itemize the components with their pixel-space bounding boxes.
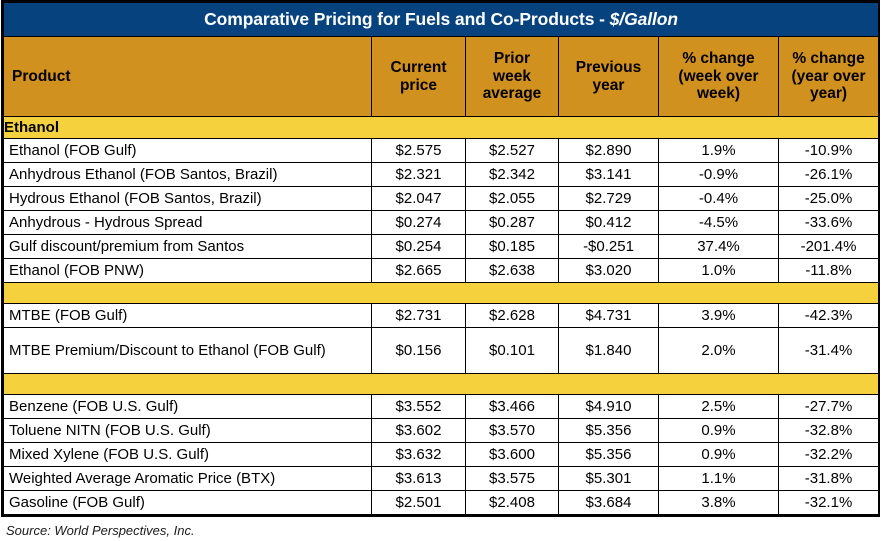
- cell-prior-week: $2.638: [466, 259, 559, 283]
- table-row: Gulf discount/premium from Santos$0.254$…: [4, 235, 879, 259]
- cell-current: $2.731: [372, 304, 466, 328]
- table-title-cell: Comparative Pricing for Fuels and Co-Pro…: [4, 3, 879, 37]
- section-band-label: [4, 283, 879, 304]
- cell-pct-week: 1.0%: [659, 259, 779, 283]
- table-row: Gasoline (FOB Gulf)$2.501$2.408$3.6843.8…: [4, 491, 879, 515]
- cell-current: $2.047: [372, 187, 466, 211]
- column-header-pct-change-week: % change(week overweek): [659, 37, 779, 117]
- cell-previous-year: $2.890: [559, 139, 659, 163]
- cell-product: MTBE (FOB Gulf): [4, 304, 372, 328]
- cell-prior-week: $2.628: [466, 304, 559, 328]
- title-unit-text: $/Gallon: [610, 9, 678, 29]
- section-band-label: [4, 374, 879, 395]
- source-note: Source: World Perspectives, Inc.: [6, 523, 895, 538]
- cell-pct-year: -32.2%: [779, 443, 879, 467]
- cell-pct-year: -201.4%: [779, 235, 879, 259]
- cell-prior-week: $3.466: [466, 395, 559, 419]
- cell-pct-week: 1.9%: [659, 139, 779, 163]
- cell-prior-week: $3.570: [466, 419, 559, 443]
- cell-prior-week: $2.408: [466, 491, 559, 515]
- cell-pct-week: 3.8%: [659, 491, 779, 515]
- cell-prior-week: $2.055: [466, 187, 559, 211]
- cell-pct-year: -32.1%: [779, 491, 879, 515]
- column-header-pct-change-year: % change(year overyear): [779, 37, 879, 117]
- column-header-previous-year: Previousyear: [559, 37, 659, 117]
- cell-current: $2.575: [372, 139, 466, 163]
- table-row: Anhydrous Ethanol (FOB Santos, Brazil)$2…: [4, 163, 879, 187]
- cell-pct-year: -11.8%: [779, 259, 879, 283]
- title-main-text: Comparative Pricing for Fuels and Co-Pro…: [204, 9, 610, 29]
- cell-pct-year: -32.8%: [779, 419, 879, 443]
- cell-previous-year: $4.910: [559, 395, 659, 419]
- pricing-table-sheet: Comparative Pricing for Fuels and Co-Pro…: [0, 0, 895, 541]
- cell-pct-week: 1.1%: [659, 467, 779, 491]
- cell-current: $2.665: [372, 259, 466, 283]
- table-title-row: Comparative Pricing for Fuels and Co-Pro…: [4, 3, 879, 37]
- cell-product: Hydrous Ethanol (FOB Santos, Brazil): [4, 187, 372, 211]
- cell-pct-week: 0.9%: [659, 419, 779, 443]
- section-band-row: Ethanol: [4, 117, 879, 139]
- cell-pct-year: -33.6%: [779, 211, 879, 235]
- cell-pct-week: 2.5%: [659, 395, 779, 419]
- table-frame: Comparative Pricing for Fuels and Co-Pro…: [1, 0, 880, 517]
- cell-current: $2.321: [372, 163, 466, 187]
- cell-current: $3.632: [372, 443, 466, 467]
- cell-pct-year: -25.0%: [779, 187, 879, 211]
- cell-product: Gulf discount/premium from Santos: [4, 235, 372, 259]
- section-band-row: [4, 283, 879, 304]
- cell-previous-year: $0.412: [559, 211, 659, 235]
- page-title: Comparative Pricing for Fuels and Co-Pro…: [204, 9, 678, 29]
- table-row: Anhydrous - Hydrous Spread$0.274$0.287$0…: [4, 211, 879, 235]
- table-row: Toluene NITN (FOB U.S. Gulf)$3.602$3.570…: [4, 419, 879, 443]
- cell-product: Anhydrous - Hydrous Spread: [4, 211, 372, 235]
- cell-pct-week: -4.5%: [659, 211, 779, 235]
- cell-product: Toluene NITN (FOB U.S. Gulf): [4, 419, 372, 443]
- cell-current: $3.613: [372, 467, 466, 491]
- cell-pct-week: 0.9%: [659, 443, 779, 467]
- cell-previous-year: $4.731: [559, 304, 659, 328]
- cell-product: Mixed Xylene (FOB U.S. Gulf): [4, 443, 372, 467]
- cell-pct-week: -0.9%: [659, 163, 779, 187]
- cell-previous-year: $5.356: [559, 443, 659, 467]
- cell-pct-year: -31.8%: [779, 467, 879, 491]
- cell-previous-year: -$0.251: [559, 235, 659, 259]
- cell-product: MTBE Premium/Discount to Ethanol (FOB Gu…: [4, 328, 372, 374]
- cell-pct-year: -26.1%: [779, 163, 879, 187]
- table-row: Mixed Xylene (FOB U.S. Gulf)$3.632$3.600…: [4, 443, 879, 467]
- cell-product: Ethanol (FOB Gulf): [4, 139, 372, 163]
- cell-prior-week: $3.600: [466, 443, 559, 467]
- cell-prior-week: $2.527: [466, 139, 559, 163]
- cell-prior-week: $0.101: [466, 328, 559, 374]
- cell-prior-week: $3.575: [466, 467, 559, 491]
- cell-product: Ethanol (FOB PNW): [4, 259, 372, 283]
- cell-prior-week: $2.342: [466, 163, 559, 187]
- cell-current: $0.156: [372, 328, 466, 374]
- cell-prior-week: $0.185: [466, 235, 559, 259]
- table-body: EthanolEthanol (FOB Gulf)$2.575$2.527$2.…: [4, 117, 879, 515]
- cell-pct-year: -31.4%: [779, 328, 879, 374]
- cell-pct-week: 2.0%: [659, 328, 779, 374]
- cell-prior-week: $0.287: [466, 211, 559, 235]
- cell-pct-week: -0.4%: [659, 187, 779, 211]
- cell-current: $0.274: [372, 211, 466, 235]
- cell-previous-year: $1.840: [559, 328, 659, 374]
- cell-product: Benzene (FOB U.S. Gulf): [4, 395, 372, 419]
- cell-pct-year: -10.9%: [779, 139, 879, 163]
- table-row: MTBE Premium/Discount to Ethanol (FOB Gu…: [4, 328, 879, 374]
- cell-current: $3.602: [372, 419, 466, 443]
- cell-previous-year: $3.684: [559, 491, 659, 515]
- table-row: Ethanol (FOB Gulf)$2.575$2.527$2.8901.9%…: [4, 139, 879, 163]
- table-row: Weighted Average Aromatic Price (BTX)$3.…: [4, 467, 879, 491]
- cell-product: Weighted Average Aromatic Price (BTX): [4, 467, 372, 491]
- cell-current: $3.552: [372, 395, 466, 419]
- cell-pct-week: 37.4%: [659, 235, 779, 259]
- cell-previous-year: $3.020: [559, 259, 659, 283]
- table-row: MTBE (FOB Gulf)$2.731$2.628$4.7313.9%-42…: [4, 304, 879, 328]
- column-header-row: Product Currentprice Priorweekaverage Pr…: [4, 37, 879, 117]
- cell-previous-year: $2.729: [559, 187, 659, 211]
- table-row: Hydrous Ethanol (FOB Santos, Brazil)$2.0…: [4, 187, 879, 211]
- cell-current: $2.501: [372, 491, 466, 515]
- cell-current: $0.254: [372, 235, 466, 259]
- section-band-label: Ethanol: [4, 117, 879, 139]
- section-band-row: [4, 374, 879, 395]
- cell-previous-year: $5.356: [559, 419, 659, 443]
- cell-product: Anhydrous Ethanol (FOB Santos, Brazil): [4, 163, 372, 187]
- cell-pct-year: -27.7%: [779, 395, 879, 419]
- cell-pct-year: -42.3%: [779, 304, 879, 328]
- table-row: Benzene (FOB U.S. Gulf)$3.552$3.466$4.91…: [4, 395, 879, 419]
- cell-previous-year: $3.141: [559, 163, 659, 187]
- column-header-current-price: Currentprice: [372, 37, 466, 117]
- column-header-prior-week-average: Priorweekaverage: [466, 37, 559, 117]
- comparative-pricing-table: Comparative Pricing for Fuels and Co-Pro…: [3, 2, 879, 515]
- cell-previous-year: $5.301: [559, 467, 659, 491]
- table-row: Ethanol (FOB PNW)$2.665$2.638$3.0201.0%-…: [4, 259, 879, 283]
- column-header-product: Product: [4, 37, 372, 117]
- cell-product: Gasoline (FOB Gulf): [4, 491, 372, 515]
- cell-pct-week: 3.9%: [659, 304, 779, 328]
